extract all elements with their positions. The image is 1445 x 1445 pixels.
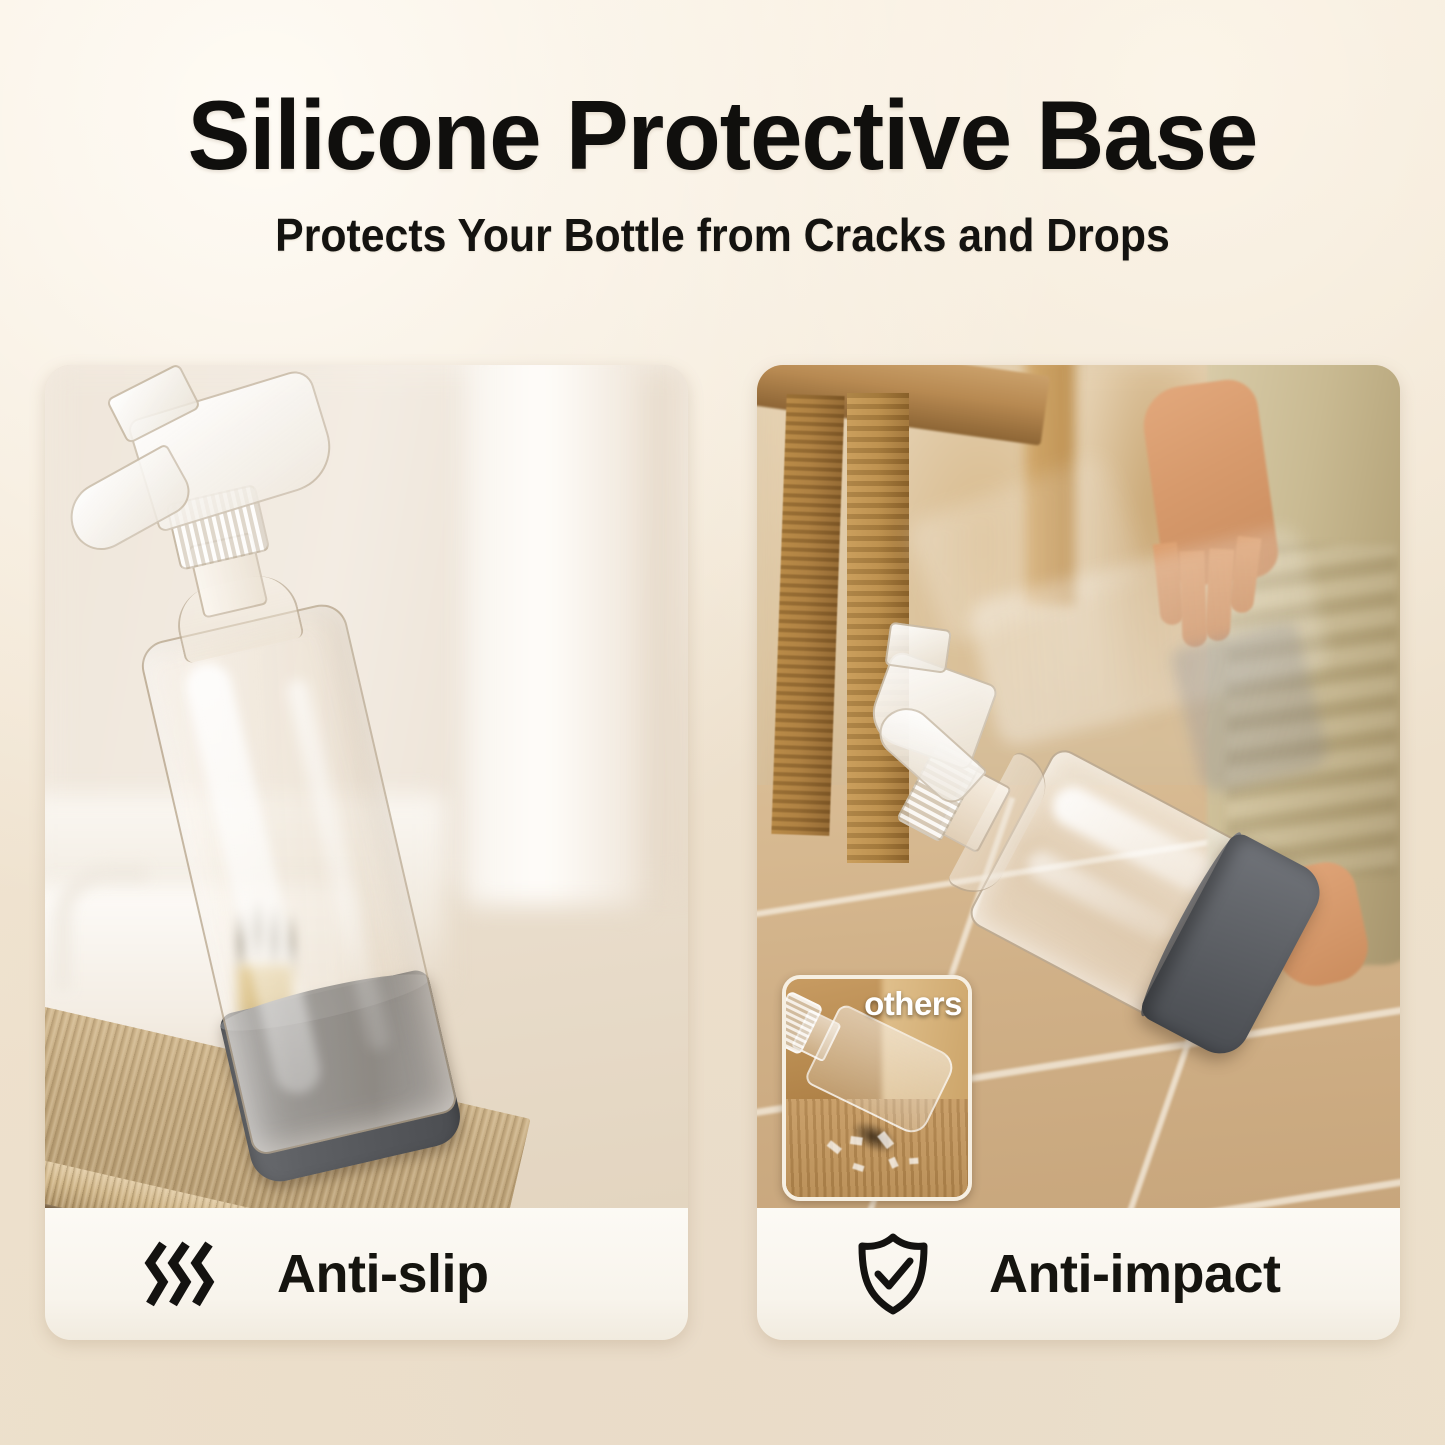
- glass-shard: [888, 1157, 898, 1169]
- bathroom-column: [465, 365, 640, 905]
- left-panel: Anti-slip: [45, 365, 688, 1340]
- shield-check-icon: [845, 1226, 941, 1322]
- panel-grid: Anti-slip: [0, 365, 1445, 1340]
- left-feature-strip: Anti-slip: [45, 1208, 688, 1340]
- product-infographic: Silicone Protective Base Protects Your B…: [0, 0, 1445, 1445]
- others-comparison-inset: others: [782, 975, 972, 1201]
- faucet-icon: [55, 865, 149, 991]
- header: Silicone Protective Base Protects Your B…: [0, 0, 1445, 258]
- page-title: Silicone Protective Base: [29, 0, 1416, 184]
- page-subtitle: Protects Your Bottle from Cracks and Dro…: [51, 184, 1395, 258]
- glass-shard: [909, 1158, 918, 1165]
- left-panel-photo: [45, 365, 688, 1208]
- left-feature-label: Anti-slip: [277, 1243, 488, 1305]
- right-panel-photo: others: [757, 365, 1400, 1208]
- sprayer-nozzle-right: [884, 622, 952, 674]
- others-inset-label: others: [844, 985, 962, 1023]
- zigzag-wave-icon: [133, 1226, 229, 1322]
- right-feature-label: Anti-impact: [989, 1243, 1281, 1305]
- right-panel: others Anti-impact: [757, 365, 1400, 1340]
- right-feature-strip: Anti-impact: [757, 1208, 1400, 1340]
- glass-shard: [850, 1136, 863, 1146]
